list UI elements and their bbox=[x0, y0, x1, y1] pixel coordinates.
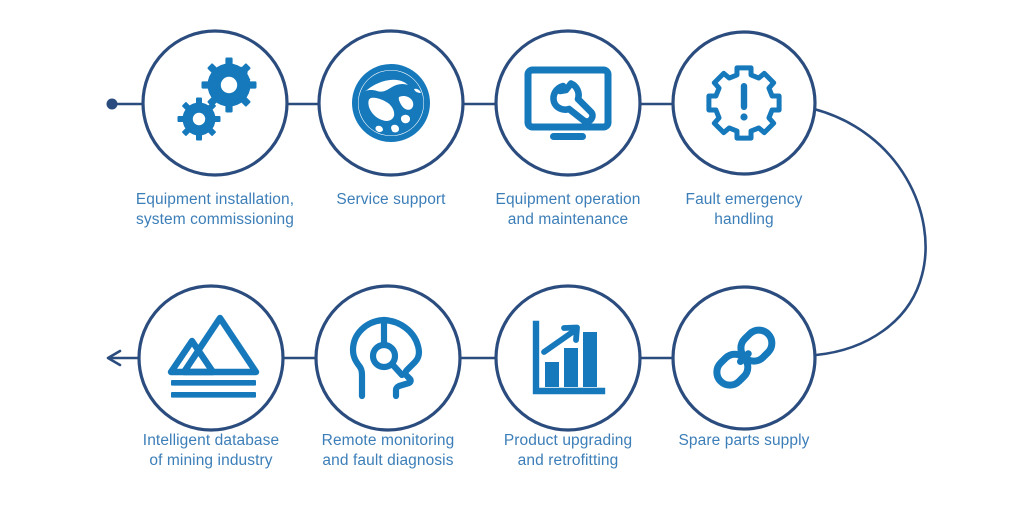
globe-icon bbox=[355, 67, 427, 139]
node-circle-equipment-operation[interactable] bbox=[496, 31, 640, 175]
node-circle-intelligent-database[interactable] bbox=[139, 286, 283, 430]
node-circle-remote-monitoring[interactable] bbox=[316, 286, 460, 430]
diagram-canvas: Equipment installation, system commissio… bbox=[0, 0, 1024, 508]
flow-diagram-svg bbox=[0, 0, 1024, 508]
connector-curve-right bbox=[814, 109, 926, 355]
